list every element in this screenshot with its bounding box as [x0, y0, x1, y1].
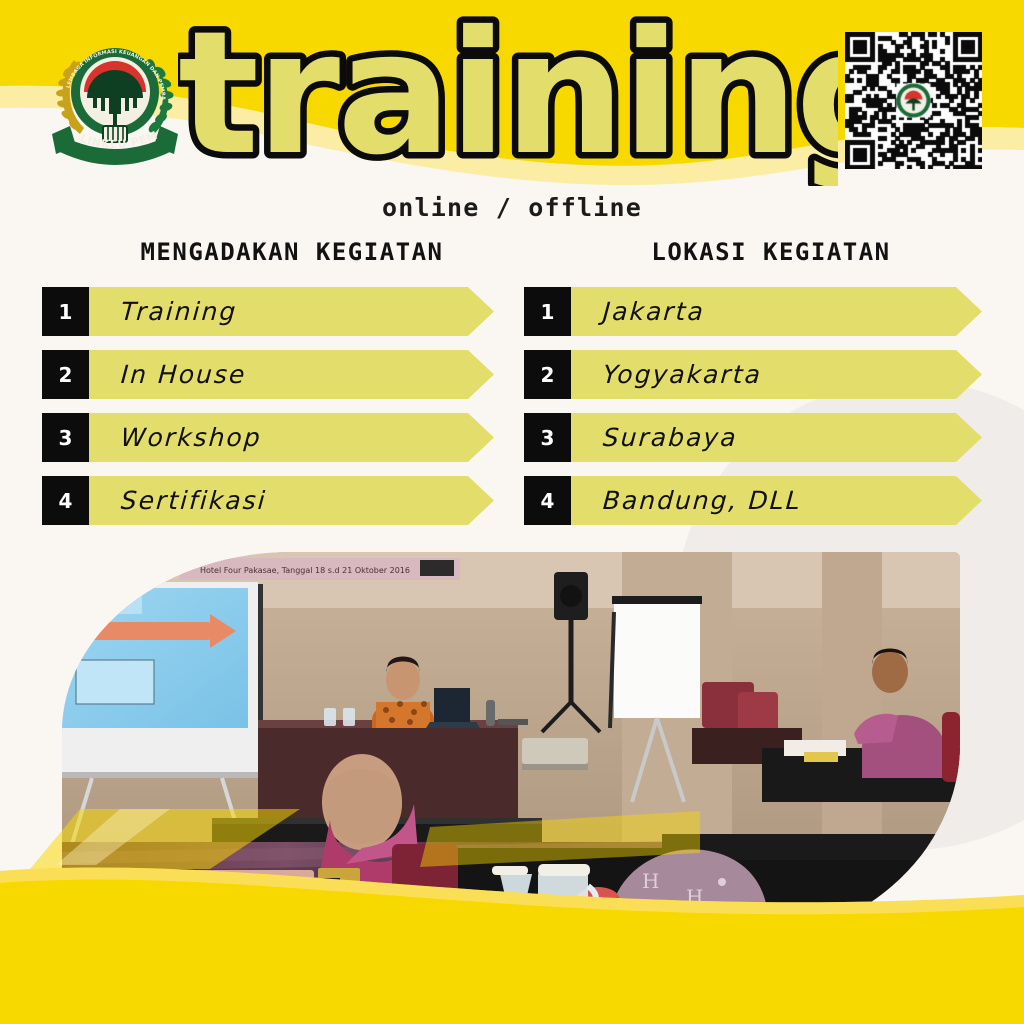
list-item-label: Jakarta [602, 297, 706, 326]
list-item[interactable]: 1 Training [42, 287, 494, 336]
list-item-number: 3 [524, 413, 571, 462]
list-item-label: Training [120, 297, 238, 326]
list-item-label: Yogyakarta [602, 360, 763, 389]
qr-code[interactable] [845, 32, 982, 169]
list-item-number: 4 [42, 476, 89, 525]
column-lokasi-kegiatan: LOKASI KEGIATAN 1 Jakarta 2 Yogyakarta 3… [524, 238, 982, 539]
bottom-accent-strip [0, 1017, 1024, 1024]
list-item-bar: Workshop [89, 413, 494, 462]
list-item-bar: In House [89, 350, 494, 399]
poster-canvas: LEMBAGA INFORMASI KEUANGAN DAN PEMBANGUN… [0, 0, 1024, 1024]
list-item-number: 2 [42, 350, 89, 399]
svg-text:H: H [642, 869, 659, 893]
phone-numbers: 0812 8666 7137 0812 8666 3857 [112, 959, 283, 1010]
website-url[interactable]: www.bimtekpusdiklat.com [704, 967, 972, 991]
contact-email[interactable]: pusdiklatlinkpemda@gmail.com [288, 966, 668, 1000]
list-item-number: 3 [42, 413, 89, 462]
list-item-bar: Yogyakarta [571, 350, 982, 399]
list-item-number: 1 [42, 287, 89, 336]
list-item[interactable]: 3 Workshop [42, 413, 494, 462]
list-item[interactable]: 2 Yogyakarta [524, 350, 982, 399]
list-item[interactable]: 1 Jakarta [524, 287, 982, 336]
contact-phone[interactable]: 0812 8666 7137 0812 8666 3857 [58, 959, 283, 1010]
phone-number-1: 0812 8666 7137 [112, 959, 283, 983]
list-item-number: 2 [524, 350, 571, 399]
email-address: pusdiklatlinkpemda@gmail.com [342, 971, 668, 995]
list-item[interactable]: 2 In House [42, 350, 494, 399]
list-item-bar: Surabaya [571, 413, 982, 462]
column-title-lokasi: LOKASI KEGIATAN [524, 238, 982, 266]
phone-number-2: 0812 8666 3857 [112, 984, 283, 1008]
poster-title: training [178, 16, 838, 186]
list-item-number: 1 [524, 287, 571, 336]
list-item-label: Workshop [120, 423, 263, 452]
svg-text:H: H [686, 885, 703, 909]
list-item[interactable]: 3 Surabaya [524, 413, 982, 462]
envelope-icon [288, 966, 328, 1000]
column-mengadakan-kegiatan: MENGADAKAN KEGIATAN 1 Training 2 In Hous… [42, 238, 494, 539]
list-item-number: 4 [524, 476, 571, 525]
list-item[interactable]: 4 Bandung, DLL [524, 476, 982, 525]
whatsapp-phone-icon [58, 964, 98, 1004]
list-item-label: In House [120, 360, 248, 389]
svg-text:Hotel Four Pakasae, Tanggal 18: Hotel Four Pakasae, Tanggal 18 s.d 21 Ok… [200, 566, 410, 575]
contact-website[interactable]: www.bimtekpusdiklat.com [648, 958, 972, 1000]
linkeu-pemda-logo: LEMBAGA INFORMASI KEUANGAN DAN PEMBANGUN… [44, 26, 186, 168]
globe-cursor-icon [648, 958, 690, 1000]
list-item[interactable]: 4 Sertifikasi [42, 476, 494, 525]
list-item-bar: Sertifikasi [89, 476, 494, 525]
poster-subtitle: online / offline [0, 193, 1024, 222]
list-item-label: Surabaya [602, 423, 739, 452]
list-item-bar: Training [89, 287, 494, 336]
list-item-bar: Bandung, DLL [571, 476, 982, 525]
column-title-mengadakan: MENGADAKAN KEGIATAN [42, 238, 494, 266]
list-item-bar: Jakarta [571, 287, 982, 336]
svg-text:training: training [178, 16, 838, 186]
training-photo: Hotel Four Pakasae, Tanggal 18 s.d 21 Ok… [62, 552, 960, 944]
list-item-label: Sertifikasi [120, 486, 268, 515]
list-item-label: Bandung, DLL [602, 486, 803, 515]
